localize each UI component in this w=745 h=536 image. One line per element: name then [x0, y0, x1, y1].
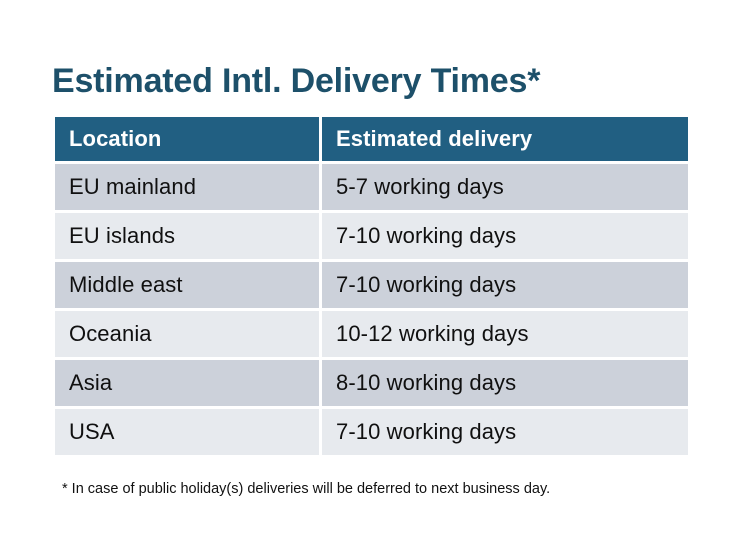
cell-delivery: 10-12 working days [322, 311, 688, 357]
cell-delivery: 7-10 working days [322, 213, 688, 259]
cell-delivery: 8-10 working days [322, 360, 688, 406]
cell-delivery: 5-7 working days [322, 164, 688, 210]
cell-location: Oceania [55, 311, 319, 357]
cell-location: Middle east [55, 262, 319, 308]
cell-location: EU islands [55, 213, 319, 259]
estimated-delivery-table: Location Estimated delivery EU mainland … [52, 114, 691, 458]
column-header-estimated-delivery: Estimated delivery [322, 117, 688, 161]
table-row: USA 7-10 working days [55, 409, 688, 455]
table-body: EU mainland 5-7 working days EU islands … [55, 164, 688, 455]
cell-location: USA [55, 409, 319, 455]
delivery-times-page: Estimated Intl. Delivery Times* Location… [0, 0, 745, 536]
table-row: Asia 8-10 working days [55, 360, 688, 406]
page-title: Estimated Intl. Delivery Times* [52, 59, 540, 103]
column-header-location: Location [55, 117, 319, 161]
footnote: * In case of public holiday(s) deliverie… [62, 479, 550, 499]
cell-location: EU mainland [55, 164, 319, 210]
cell-delivery: 7-10 working days [322, 409, 688, 455]
table-header-row: Location Estimated delivery [55, 117, 688, 161]
cell-delivery: 7-10 working days [322, 262, 688, 308]
table-row: Middle east 7-10 working days [55, 262, 688, 308]
table-header: Location Estimated delivery [55, 117, 688, 161]
table-row: Oceania 10-12 working days [55, 311, 688, 357]
table-row: EU mainland 5-7 working days [55, 164, 688, 210]
table-row: EU islands 7-10 working days [55, 213, 688, 259]
cell-location: Asia [55, 360, 319, 406]
